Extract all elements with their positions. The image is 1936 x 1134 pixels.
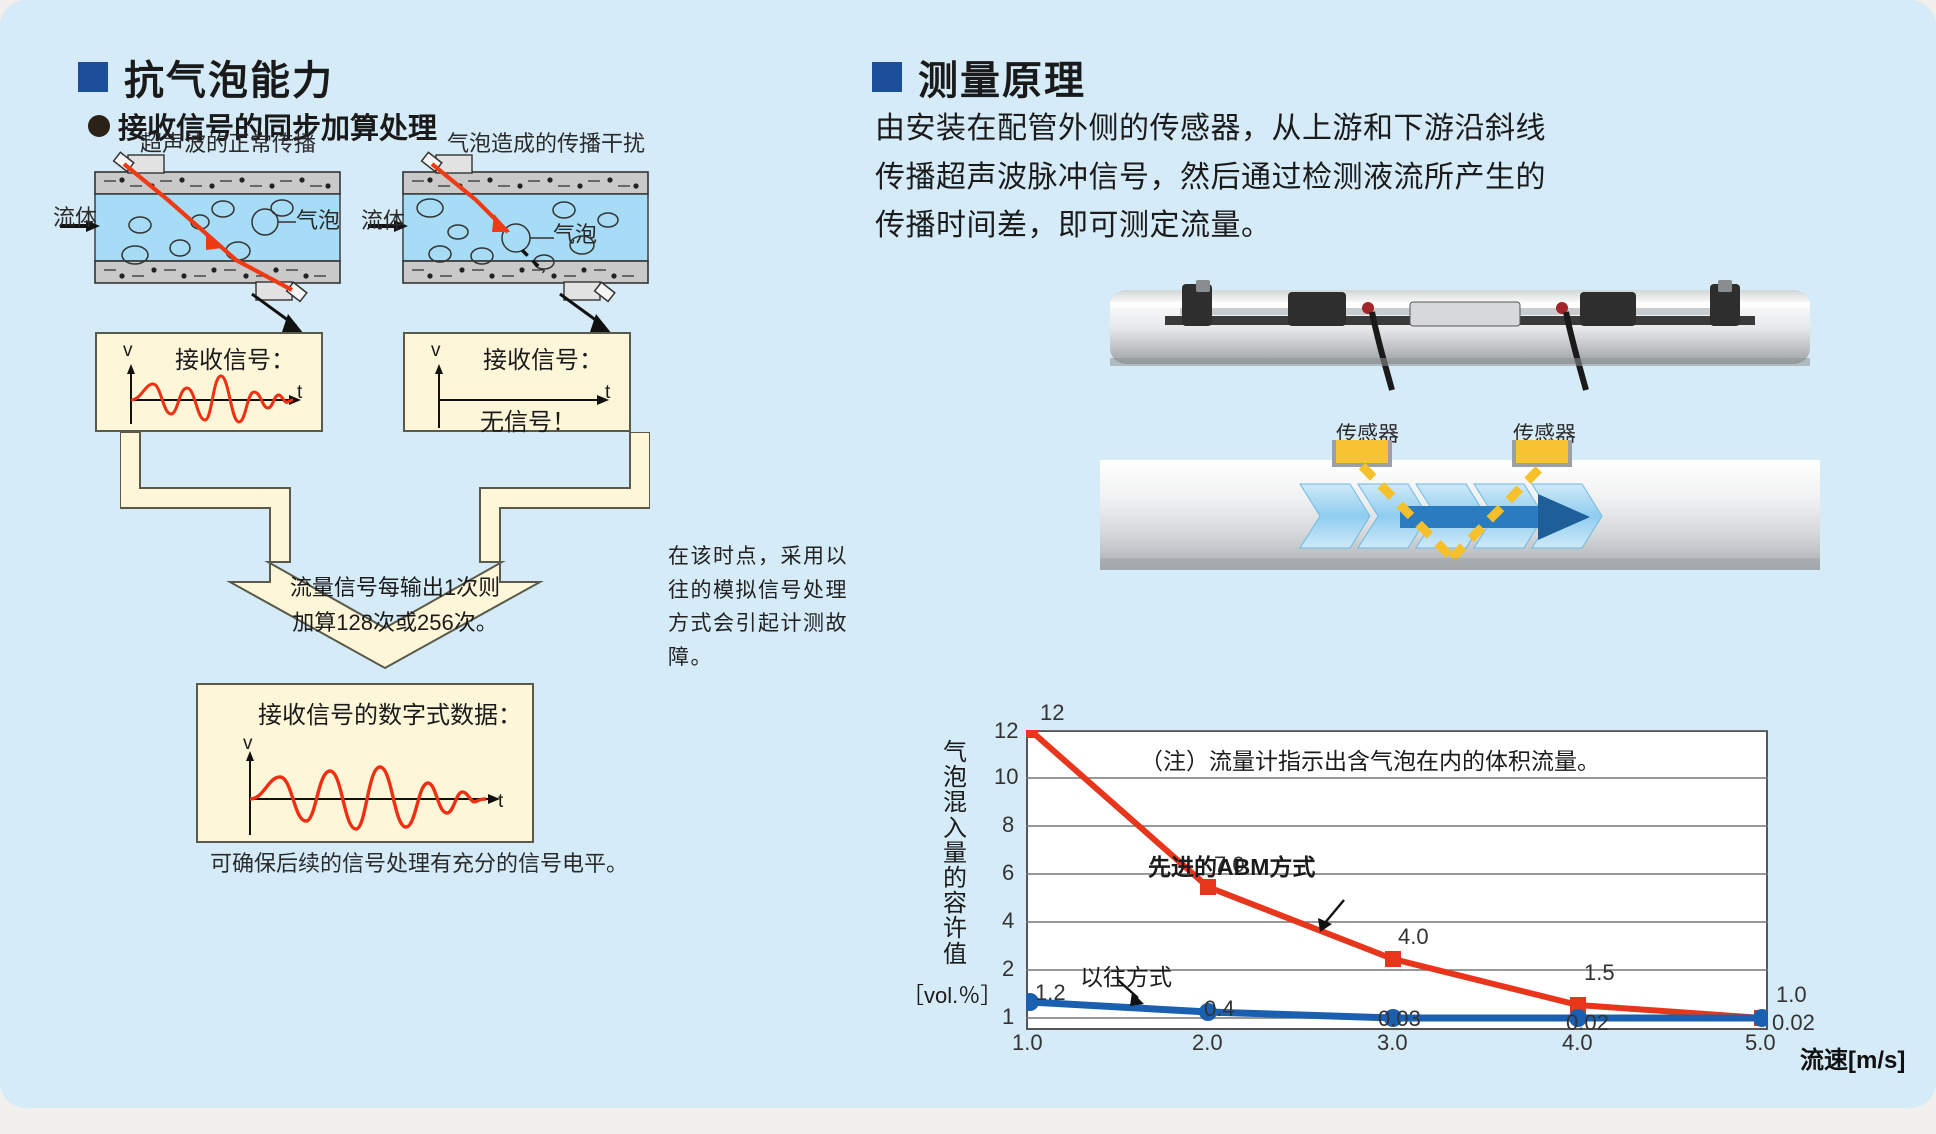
waveform-digital (242, 751, 506, 841)
bubble-label-1: 气泡 (296, 203, 340, 235)
right-section-header: 测量原理 (872, 48, 1086, 106)
bubble-label-2: 气泡 (553, 217, 597, 249)
blue-label-4: 0.02 (1772, 1010, 1815, 1036)
chart-yunit: ［vol.％］ (902, 978, 1002, 1010)
red-label-3: 1.5 (1584, 960, 1615, 986)
funnel-text-line1: 流量信号每输出1次则 (265, 570, 525, 605)
red-label-4: 1.0 (1776, 982, 1807, 1008)
signal-box-normal: v 接收信号： t (95, 332, 323, 432)
blue-label-1: 0.4 (1204, 996, 1235, 1022)
left-section-header: 抗气泡能力 (78, 48, 334, 106)
chart-xlabel: 流速[m/s] (1800, 1040, 1905, 1075)
side-note-text: 在该时点，采用以往的模拟信号处理方式会引起计测故障。 (668, 540, 868, 674)
xtick-3: 3.0 (1377, 1030, 1408, 1056)
ytick-2: 2 (1002, 956, 1014, 982)
funnel-arrow-text: 流量信号每输出1次则 加算128次或256次。 (265, 570, 525, 640)
box3-title: 接收信号的数字式数据： (258, 695, 522, 730)
signal-box-digital: 接收信号的数字式数据： v t (196, 683, 534, 843)
right-paragraph-line1: 由安装在配管外侧的传感器，从上游和下游沿斜线 (875, 105, 1635, 154)
pipe-diagram-interference (368, 150, 668, 310)
xtick-4: 4.0 (1562, 1030, 1593, 1056)
sensor-schematic (1100, 440, 1820, 610)
box2-axis-v-label: v (431, 340, 441, 362)
bullet-dot-icon (88, 115, 110, 137)
right-paragraph-line3: 传播时间差，即可测定流量。 (875, 202, 1635, 251)
annotation-conventional: 以往方式 (1080, 958, 1172, 992)
ytick-10: 10 (994, 764, 1018, 790)
chart-ylabel: 气泡混入量的容许值 (940, 740, 970, 967)
ytick-6: 6 (1002, 860, 1014, 886)
page-root: 抗气泡能力 接收信号的同步加算处理 超声波的正常传播 气泡造成的传播干扰 (0, 0, 1936, 1134)
signal-box-nosignal: v 接收信号： t 无信号！ (403, 332, 631, 432)
xtick-5: 5.0 (1745, 1030, 1776, 1056)
right-paragraph: 由安装在配管外侧的传感器，从上游和下游沿斜线 传播超声波脉冲信号，然后通过检测液… (875, 105, 1635, 251)
blue-label-2: 0.03 (1378, 1006, 1421, 1032)
ytick-8: 8 (1002, 812, 1014, 838)
content-panel: 抗气泡能力 接收信号的同步加算处理 超声波的正常传播 气泡造成的传播干扰 (0, 0, 1936, 1108)
blue-square-icon-2 (872, 62, 902, 92)
annotation-abm: 先进的ABM方式 (1148, 848, 1315, 882)
ytick-12: 12 (994, 718, 1018, 744)
red-label-2: 4.0 (1398, 924, 1429, 950)
red-label-0: 12 (1040, 700, 1064, 726)
ytick-1: 1 (1002, 1004, 1014, 1030)
funnel-text-line2: 加算128次或256次。 (265, 605, 525, 640)
left-section-title: 抗气泡能力 (124, 48, 334, 106)
chart-note: （注）流量计指示出含气泡在内的体积流量。 (1140, 742, 1600, 776)
blue-square-icon (78, 62, 108, 92)
box1-axis-v-label: v (123, 340, 133, 362)
blue-label-0: 1.2 (1035, 980, 1066, 1006)
fluid-label-2: 流体 (361, 203, 405, 235)
xtick-1: 1.0 (1012, 1030, 1043, 1056)
ytick-4: 4 (1002, 908, 1014, 934)
right-section-title: 测量原理 (918, 48, 1086, 106)
pipe-photo (1110, 272, 1810, 392)
waveform-normal (123, 362, 303, 432)
fluid-label-1: 流体 (53, 200, 97, 232)
funnel-arrow-shape (120, 432, 650, 682)
waveform-flat (431, 362, 611, 432)
right-paragraph-line2: 传播超声波脉冲信号，然后通过检测液流所产生的 (875, 154, 1635, 203)
xtick-2: 2.0 (1192, 1030, 1223, 1056)
bottom-note-text: 可确保后续的信号处理有充分的信号电平。 (210, 846, 628, 878)
